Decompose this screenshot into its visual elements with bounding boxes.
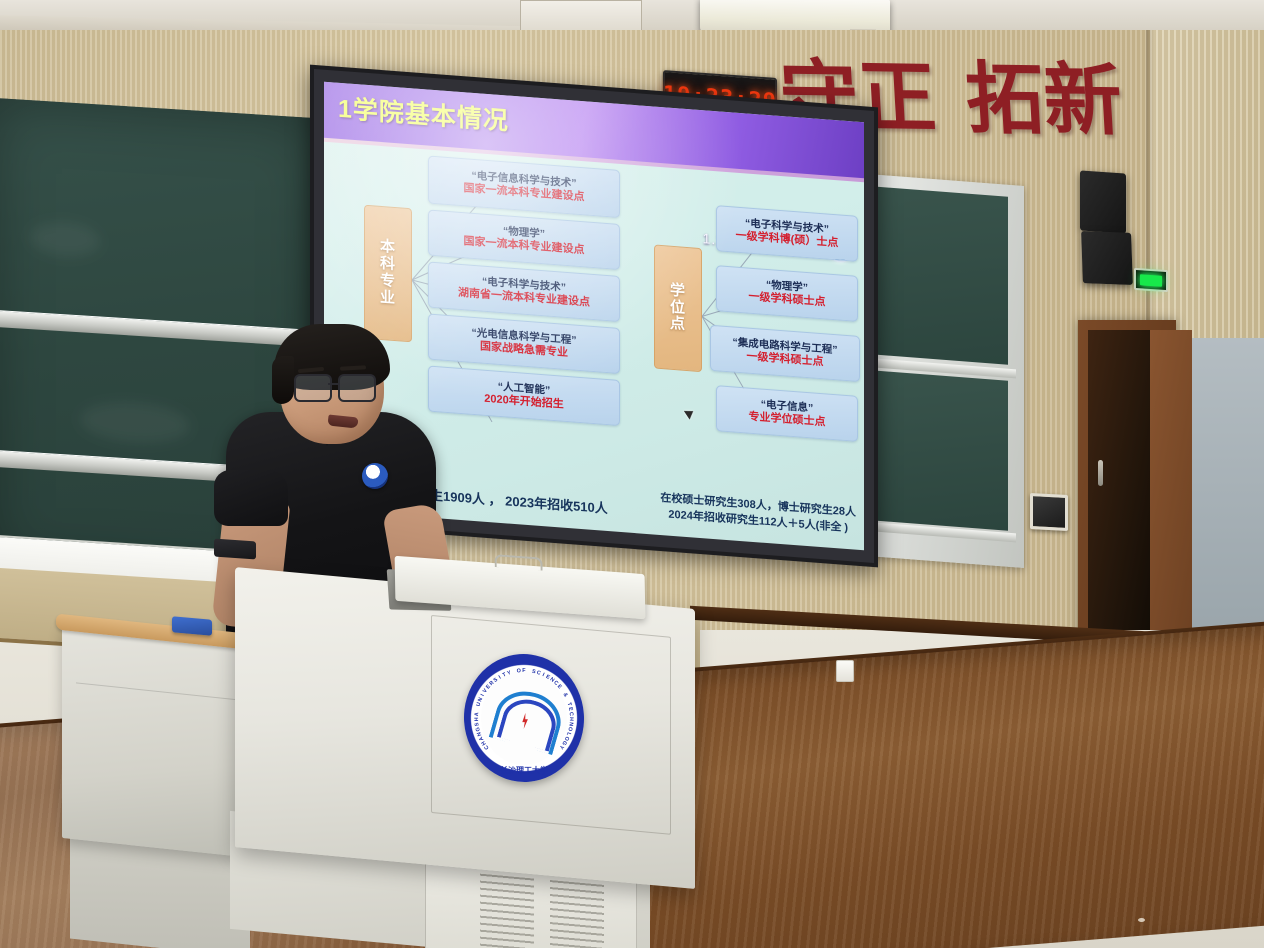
light-switch[interactable] [836,660,854,682]
emblem-char: C [568,712,574,717]
stem-char: 点 [670,316,686,334]
lectern-vent-grille [480,874,534,948]
chalkboard-right-panel-top [876,187,1008,365]
emblem-char: S [474,722,480,727]
mouse-cursor-icon [684,407,696,420]
stem-char: 学 [670,283,686,301]
door-handle[interactable] [1098,460,1103,486]
stem-char: 业 [380,290,396,308]
emergency-exit-sign [1134,268,1168,292]
lectern-university-emblem: CHANGSHA UNIVERSITY OF SCIENCE & TECHNOL… [464,654,584,782]
degree-node: “集成电路科学与工程” 一级学科硕士点 [710,325,860,382]
glasses-lens [338,374,376,402]
program-node: “人工智能” 2020年开始招生 [428,366,620,426]
chalk-smudge [80,399,190,446]
program-status: 2020年开始招生 [484,393,563,412]
exit-icon [1140,274,1162,287]
emblem-char: F [522,668,526,674]
emblem-english-text: CHANGSHA UNIVERSITY OF SCIENCE & TECHNOL… [464,654,584,782]
desk-item-blue-box[interactable] [172,616,212,635]
degree-status: 专业学位硕士点 [749,411,826,430]
calligraphy-phrase-2: 拓新 [964,60,1124,140]
program-node: “电子信息科学与技术” 国家一流本科专业建设点 [428,156,620,218]
emblem-char: H [474,717,480,721]
undergrad-stem-label: 本 科 专 业 [364,205,412,343]
program-node: “物理学” 国家一流本科专业建设点 [428,210,620,270]
presenter-hair-side [272,356,294,404]
floor-debris [1138,918,1145,922]
door-opening [1088,330,1150,648]
degree-point-stem-label: 学 位 点 [654,245,702,373]
graduate-enrollment-stats: 在校硕士研究生308人，博士研究生28人 2024年招收研究生112人＋5人(非… [660,491,856,538]
degree-node: “物理学” 一级学科硕士点 [716,265,858,322]
eyeglasses-icon [294,374,380,400]
chalk-smudge [30,220,100,258]
emblem-char: & [561,692,568,699]
wall-control-panel[interactable] [1030,493,1068,531]
lectern-lid-handle[interactable] [494,554,542,571]
corridor-beyond-door [1192,338,1264,638]
desk-item-remote[interactable] [214,539,256,560]
emblem-chinese-text: 长沙理工大学 [500,765,548,776]
lectern-vent-grille [550,880,604,948]
chalkboard-right-panel-bottom [876,371,1008,531]
wall-speaker-upper [1080,170,1126,233]
emblem-char: O [516,668,521,674]
glasses-lens [294,374,332,402]
degree-node: “电子科学与技术” 一级学科博(硕）士点 [716,205,858,262]
emblem-char: A [474,712,480,717]
chalkboard-right-frame [868,174,1024,568]
emblem-char: Y [506,670,512,677]
program-node: “光电信息科学与工程” 国家战略急需专业 [428,314,620,374]
door-leaf-open[interactable] [1150,330,1192,648]
wall-speaker-lower [1081,231,1133,285]
program-node: “电子科学与技术” 湖南省一流本科专业建设点 [428,262,620,322]
emblem-char: H [568,717,574,721]
lecture-hall-scene: 守正 拓新 19:23:29 1学院基本情况 [0,0,1264,948]
degree-status: 一级学科硕士点 [749,291,826,310]
shirt-logo-badge [362,463,388,489]
presenter-sleeve [214,470,288,526]
degree-node: “电子信息” 专业学位硕士点 [716,385,858,442]
